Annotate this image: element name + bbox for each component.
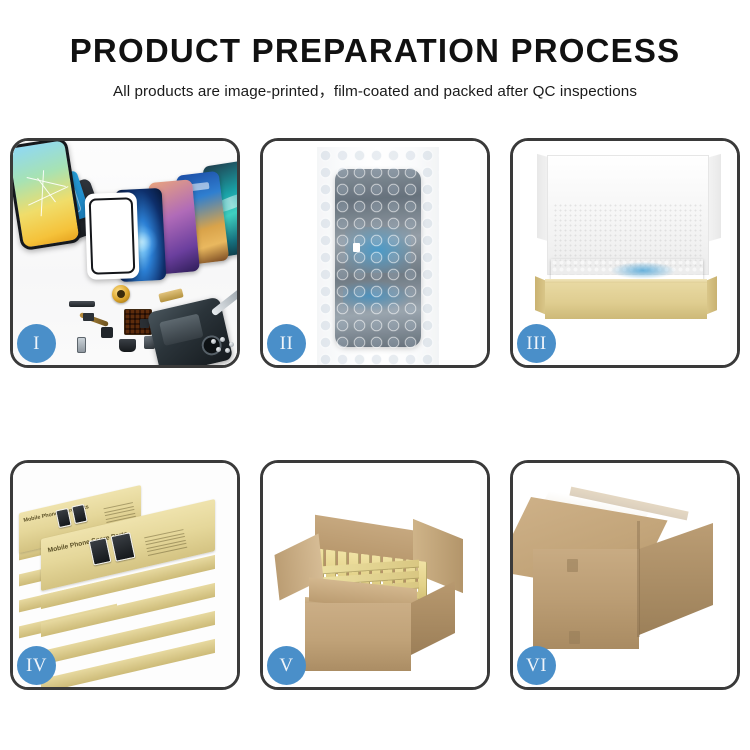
screws-icon xyxy=(211,337,237,353)
sim-tray-icon xyxy=(77,337,86,353)
carton-corner-edge-icon xyxy=(637,521,640,637)
step-badge-3: III xyxy=(517,324,556,363)
step-panel-1: I xyxy=(10,138,240,368)
step-panel-6: VI xyxy=(510,460,740,690)
kraft-box-front-icon xyxy=(545,283,707,319)
infographic-page: PRODUCT PREPARATION PROCESS All products… xyxy=(0,0,750,750)
bubble-highlight-icon xyxy=(353,243,360,252)
bubble-wrap-sheet-icon xyxy=(317,147,439,365)
step-panel-2: II xyxy=(260,138,490,368)
step-badge-1: I xyxy=(17,324,56,363)
step-badge-6: VI xyxy=(517,646,556,685)
bubble-texture-icon xyxy=(317,147,439,365)
step-panel-4: Mobile Phone Spare Parts Mobile Phone Sp… xyxy=(10,460,240,690)
vibration-motor-icon xyxy=(112,285,130,303)
process-steps-grid: I II xyxy=(10,138,740,690)
carton-flap-mark-1-icon xyxy=(567,559,578,572)
carton-front-panel-icon xyxy=(305,603,411,671)
page-title: PRODUCT PREPARATION PROCESS xyxy=(0,33,750,69)
glass-screen-protector-icon xyxy=(85,192,140,280)
sealed-carton-front-icon xyxy=(533,549,639,649)
connector-icon xyxy=(83,313,94,321)
step-badge-4: IV xyxy=(17,646,56,685)
camera-module-icon xyxy=(101,327,113,338)
step-panel-3: III xyxy=(510,138,740,368)
header: PRODUCT PREPARATION PROCESS All products… xyxy=(0,0,750,101)
page-subtitle: All products are image-printed，film-coat… xyxy=(0,79,750,101)
earpiece-mesh-icon xyxy=(69,301,95,307)
speaker-icon xyxy=(119,339,136,352)
step-panel-5: V xyxy=(260,460,490,690)
carton-flap-mark-2-icon xyxy=(569,631,580,644)
step-badge-5: V xyxy=(267,646,306,685)
step-badge-2: II xyxy=(267,324,306,363)
